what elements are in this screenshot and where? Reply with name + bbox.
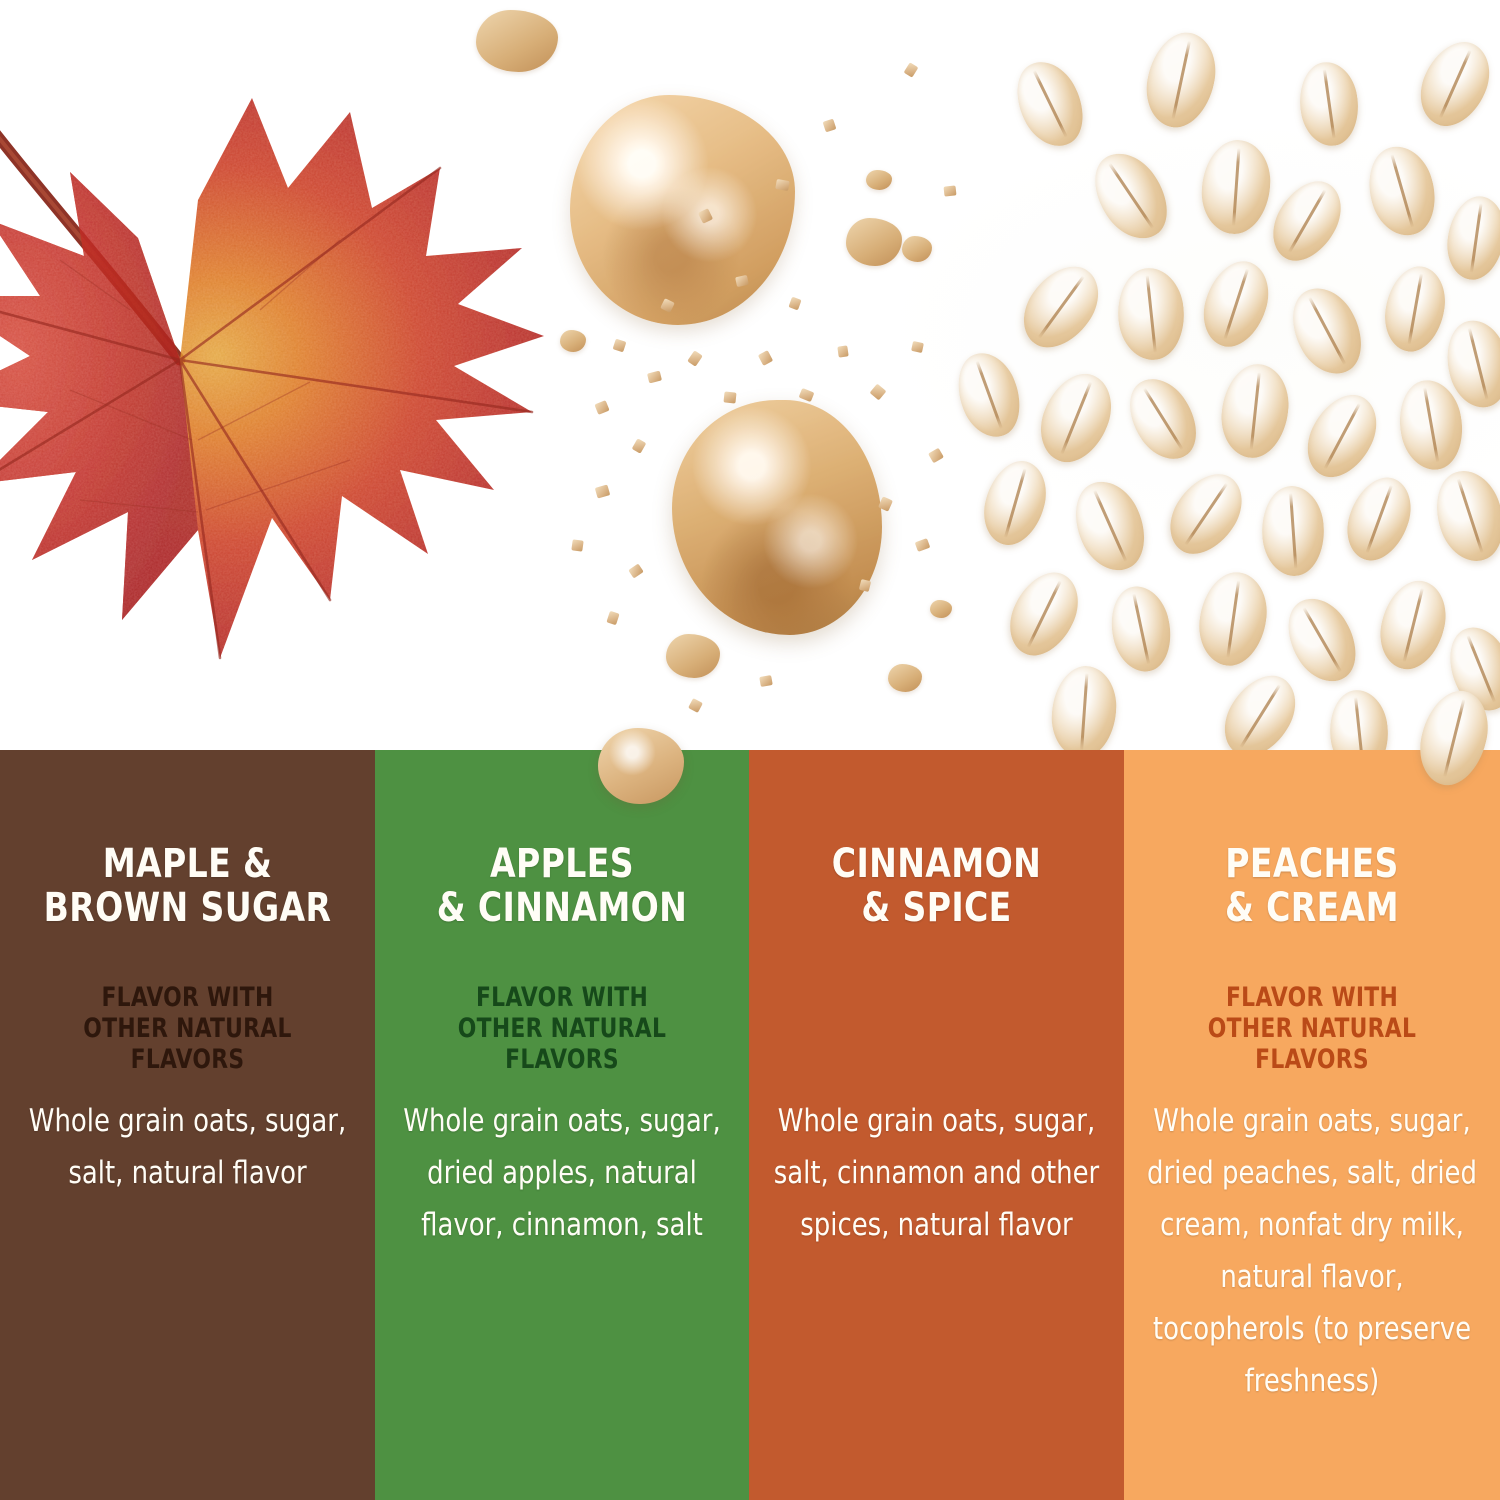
sugar-crystal: [837, 345, 848, 357]
flavor-subtitle: FLAVOR WITH OTHER NATURAL FLAVORS: [399, 982, 725, 1075]
rolled-oat: [1062, 471, 1158, 581]
brown-sugar-crumb: [866, 170, 892, 190]
rolled-oat: [1379, 262, 1451, 357]
ingredient-list: Whole grain oats, sugar, dried peaches, …: [1141, 1095, 1483, 1407]
flavor-title-line1: PEACHES: [1150, 842, 1474, 886]
brown-sugar-crumb: [888, 664, 922, 692]
rolled-oat: [1274, 587, 1370, 693]
rolled-oat: [1359, 139, 1445, 243]
sugar-crystal: [687, 350, 703, 366]
sugar-crystal: [688, 698, 703, 713]
rolled-oat: [1113, 265, 1188, 363]
brown-sugar-chunk: [672, 400, 882, 635]
rolled-oat: [1009, 252, 1112, 361]
flavor-subtitle: FLAVOR WITH OTHER NATURAL FLAVORS: [24, 982, 351, 1075]
flavor-subtitle-line1: FLAVOR WITH: [399, 982, 725, 1013]
rolled-oat: [1049, 664, 1119, 752]
flavor-panel-cinnamon-spice[interactable]: CINNAMON & SPICE Whole grain oats, sugar…: [749, 750, 1124, 1500]
rolled-oat: [1029, 363, 1123, 472]
flavor-title: CINNAMON & SPICE: [775, 842, 1098, 930]
flavor-panel-apples-cinnamon[interactable]: APPLES & CINNAMON FLAVOR WITH OTHER NATU…: [375, 750, 749, 1500]
rolled-oat: [1194, 568, 1272, 670]
sugar-crystal: [870, 384, 887, 401]
rolled-oat: [1260, 169, 1353, 272]
rolled-oat: [1080, 141, 1183, 252]
sugar-crystal: [571, 539, 583, 551]
rolled-oat: [1442, 193, 1500, 284]
maple-leaf-image: [0, 60, 580, 720]
flavor-panel-row: MAPLE & BROWN SUGAR FLAVOR WITH OTHER NA…: [0, 750, 1500, 1500]
rolled-oat: [1104, 581, 1179, 677]
ingredient-list: Whole grain oats, sugar, dried apples, n…: [397, 1095, 726, 1251]
flavor-subtitle: FLAVOR WITH OTHER NATURAL FLAVORS: [1148, 982, 1476, 1075]
sugar-crystal: [859, 579, 871, 592]
flavor-panel-peaches-cream[interactable]: PEACHES & CREAM FLAVOR WITH OTHER NATURA…: [1124, 750, 1500, 1500]
rolled-oat: [1157, 461, 1256, 568]
sugar-crystal: [632, 438, 647, 453]
rolled-oat: [947, 345, 1031, 446]
sugar-crystal: [759, 675, 773, 687]
ingredient-list: Whole grain oats, sugar, salt, natural f…: [22, 1095, 352, 1199]
sugar-crystal: [628, 563, 644, 578]
sugar-crystal: [823, 119, 837, 133]
brown-sugar-crumb: [846, 218, 902, 266]
rolled-oat: [1217, 361, 1292, 461]
sugar-crystal: [595, 484, 611, 498]
rolled-oat: [1425, 462, 1500, 569]
rolled-oat: [1279, 277, 1376, 386]
flavor-subtitle-line1: FLAVOR WITH: [24, 982, 351, 1013]
rolled-oat: [998, 561, 1091, 666]
rolled-oat: [1326, 687, 1392, 752]
rolled-oat: [1294, 58, 1363, 149]
sugar-crystal: [944, 185, 957, 196]
sugar-crystal: [915, 538, 931, 552]
rolled-oat: [1295, 383, 1389, 489]
sugar-crystal: [799, 388, 815, 402]
flavor-title: PEACHES & CREAM: [1150, 842, 1474, 930]
rolled-oat: [975, 454, 1054, 553]
flavor-title: APPLES & CINNAMON: [401, 842, 723, 930]
flavor-subtitle-line2: OTHER NATURAL FLAVORS: [24, 1013, 351, 1075]
sugar-crystal: [928, 448, 944, 464]
sugar-crystal: [606, 611, 619, 626]
rolled-oat: [1372, 574, 1454, 676]
rolled-oat: [1409, 31, 1500, 137]
infographic-root: MAPLE & BROWN SUGAR FLAVOR WITH OTHER NA…: [0, 0, 1500, 1500]
flavor-title-line2: BROWN SUGAR: [26, 886, 349, 930]
sugar-crystal: [723, 391, 736, 403]
flavor-subtitle-line2: OTHER NATURAL FLAVORS: [399, 1013, 725, 1075]
flavor-title-line1: MAPLE &: [26, 842, 349, 886]
flavor-subtitle-line2: OTHER NATURAL FLAVORS: [1148, 1013, 1476, 1075]
flavor-title-line1: CINNAMON: [775, 842, 1098, 886]
sugar-crystal: [647, 371, 662, 384]
flavor-title: MAPLE & BROWN SUGAR: [26, 842, 349, 930]
sugar-crystal: [904, 62, 919, 77]
brown-sugar-chunk: [570, 95, 795, 325]
flavor-title-line2: & CINNAMON: [401, 886, 723, 930]
flavor-title-line1: APPLES: [401, 842, 723, 886]
sugar-crystal: [911, 341, 924, 353]
rolled-oat: [1199, 138, 1273, 237]
brown-sugar-crumb: [560, 330, 586, 352]
flavor-subtitle-line1: FLAVOR WITH: [1148, 982, 1476, 1013]
rolled-oat: [1139, 26, 1224, 134]
flavor-title-line2: & SPICE: [775, 886, 1098, 930]
sugar-crystal: [758, 350, 773, 366]
sugar-crystal: [775, 179, 790, 191]
rolled-oat: [1211, 663, 1309, 752]
flavor-title-line2: & CREAM: [1150, 886, 1474, 930]
ingredient-list: Whole grain oats, sugar, salt, cinnamon …: [768, 1095, 1106, 1251]
rolled-oat: [1116, 367, 1211, 471]
brown-sugar-crumb: [902, 236, 932, 262]
sugar-crystal: [788, 297, 801, 311]
brown-sugar-crumb: [666, 634, 720, 678]
flavor-panel-maple-brown-sugar[interactable]: MAPLE & BROWN SUGAR FLAVOR WITH OTHER NA…: [0, 750, 375, 1500]
ingredient-photo: [0, 0, 1500, 752]
rolled-oat: [1194, 253, 1278, 355]
sugar-crystal: [594, 400, 609, 415]
rolled-oat: [1337, 469, 1421, 570]
rolled-oat: [1259, 484, 1327, 578]
rolled-oat: [1004, 51, 1097, 156]
sugar-crystal: [613, 339, 627, 353]
brown-sugar-crumb: [930, 600, 952, 618]
